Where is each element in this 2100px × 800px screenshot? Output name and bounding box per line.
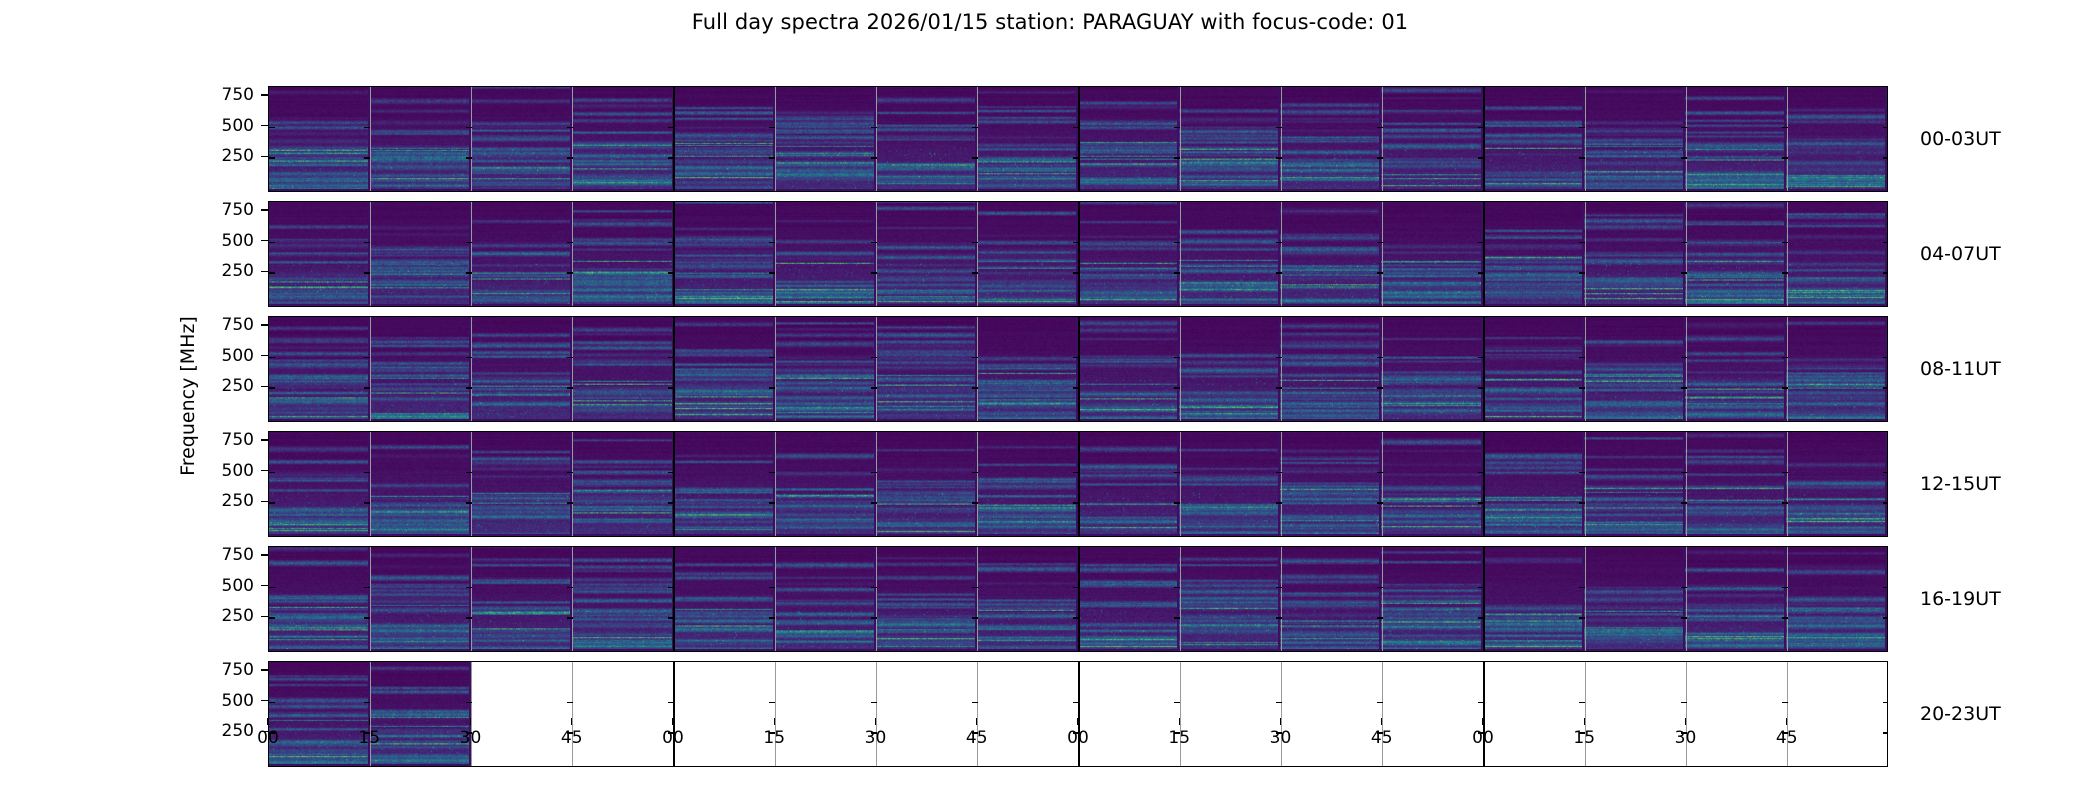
spectrogram-cell[interactable] <box>1584 432 1685 536</box>
row-label-08-11: 08-11UT <box>1920 358 2001 380</box>
minor-tick <box>1174 242 1180 243</box>
quarter-hour-separator <box>1382 547 1383 651</box>
spectrogram-cell[interactable] <box>1584 202 1685 306</box>
spectrogram-cell[interactable] <box>1786 432 1887 536</box>
minor-tick <box>769 357 775 358</box>
minor-tick <box>668 357 674 358</box>
spectrogram-image <box>1786 547 1885 649</box>
x-tick-mark <box>976 718 977 725</box>
spectrogram-cell[interactable] <box>876 432 977 536</box>
minor-tick <box>1579 242 1585 243</box>
minor-tick <box>1681 587 1687 588</box>
spectrogram-image <box>1786 87 1885 189</box>
quarter-hour-separator <box>1787 317 1788 421</box>
minor-tick <box>1883 502 1888 503</box>
minor-tick <box>466 357 472 358</box>
x-tick-mark <box>1077 718 1078 725</box>
quarter-hour-separator <box>1382 87 1383 191</box>
minor-tick <box>871 357 877 358</box>
spectrogram-cell[interactable] <box>775 87 876 191</box>
minor-tick <box>1478 242 1484 243</box>
spectrogram-row-04-07[interactable] <box>268 201 1888 307</box>
spectrogram-cell[interactable] <box>269 202 370 306</box>
minor-tick <box>466 472 472 473</box>
quarter-hour-separator <box>471 202 472 306</box>
y-tick-label: 500 <box>210 116 254 136</box>
quarter-hour-separator <box>471 432 472 536</box>
spectrogram-cell[interactable] <box>269 317 370 421</box>
minor-tick <box>567 387 573 388</box>
quarter-hour-separator <box>471 547 472 651</box>
minor-tick <box>668 157 674 158</box>
spectrogram-image <box>1786 432 1885 534</box>
spectrogram-image <box>1786 202 1885 304</box>
spectrogram-cell[interactable] <box>572 87 673 191</box>
y-tick-label: 500 <box>210 691 254 711</box>
hour-separator <box>673 547 675 651</box>
spectrogram-image <box>269 432 368 534</box>
minor-tick <box>364 242 370 243</box>
spectrogram-image <box>1381 547 1480 649</box>
spectrogram-image <box>1584 87 1683 189</box>
spectrogram-cell[interactable] <box>775 202 876 306</box>
quarter-hour-separator <box>1281 202 1282 306</box>
minor-tick <box>1276 472 1282 473</box>
spectrogram-cell[interactable] <box>674 87 775 191</box>
x-tick-label: 45 <box>1371 728 1393 748</box>
minor-tick <box>871 127 877 128</box>
y-tick-mark <box>261 585 268 586</box>
spectrogram-cell[interactable] <box>572 202 673 306</box>
x-tick-label: 45 <box>1776 728 1798 748</box>
row-label-00-03: 00-03UT <box>1920 128 2001 150</box>
spectrogram-image <box>1584 202 1683 304</box>
spectrogram-image <box>1685 202 1784 304</box>
minor-tick <box>972 472 978 473</box>
spectrogram-cell[interactable] <box>1078 87 1179 191</box>
minor-tick <box>871 472 877 473</box>
quarter-hour-separator <box>1382 202 1383 306</box>
spectrogram-cell[interactable] <box>1685 202 1786 306</box>
minor-tick <box>1276 357 1282 358</box>
quarter-hour-separator <box>775 317 776 421</box>
spectrogram-image <box>775 432 874 534</box>
minor-tick <box>1782 242 1788 243</box>
quarter-hour-separator <box>977 317 978 421</box>
spectrogram-cell[interactable] <box>1280 202 1381 306</box>
spectrogram-cell[interactable] <box>876 87 977 191</box>
spectrogram-cell[interactable] <box>674 202 775 306</box>
spectrogram-image <box>775 317 874 419</box>
minor-tick <box>1579 127 1585 128</box>
quarter-hour-separator <box>1585 432 1586 536</box>
minor-tick <box>269 357 275 358</box>
minor-tick <box>269 472 275 473</box>
quarter-hour-separator <box>1787 202 1788 306</box>
hour-separator <box>1078 202 1080 306</box>
minor-tick <box>769 242 775 243</box>
minor-tick <box>466 272 472 273</box>
spectrogram-cell[interactable] <box>269 432 370 536</box>
minor-tick <box>1782 387 1788 388</box>
spectrogram-cell[interactable] <box>775 547 876 651</box>
spectrogram-cell[interactable] <box>269 547 370 651</box>
spectrogram-cell[interactable] <box>1786 317 1887 421</box>
minor-tick <box>1073 617 1079 618</box>
hour-separator <box>1078 432 1080 536</box>
minor-tick <box>668 387 674 388</box>
spectrogram-cell[interactable] <box>977 87 1078 191</box>
x-tick-label: 45 <box>561 728 583 748</box>
minor-tick <box>466 127 472 128</box>
spectrogram-image <box>1584 317 1683 419</box>
spectrogram-cell[interactable] <box>977 547 1078 651</box>
minor-tick <box>1478 502 1484 503</box>
minor-tick <box>972 272 978 273</box>
x-tick-mark <box>369 718 370 725</box>
spectrogram-cell[interactable] <box>1179 317 1280 421</box>
spectrogram-cell[interactable] <box>775 317 876 421</box>
minor-tick <box>364 357 370 358</box>
minor-tick <box>1681 272 1687 273</box>
spectrogram-cell[interactable] <box>471 202 572 306</box>
spectrogram-image <box>876 547 975 649</box>
y-tick-mark <box>261 470 268 471</box>
quarter-hour-separator <box>1180 202 1181 306</box>
minor-tick <box>1681 242 1687 243</box>
minor-tick <box>1174 157 1180 158</box>
quarter-hour-separator <box>1180 547 1181 651</box>
spectrogram-cell[interactable] <box>1078 432 1179 536</box>
spectrogram-cell[interactable] <box>1786 202 1887 306</box>
x-tick-mark <box>1179 718 1180 725</box>
x-tick-mark <box>470 718 471 725</box>
spectrogram-image <box>1381 317 1480 419</box>
spectrogram-cell[interactable] <box>1483 87 1584 191</box>
minor-tick <box>668 472 674 473</box>
quarter-hour-separator <box>1585 547 1586 651</box>
y-tick-mark <box>261 94 268 95</box>
minor-tick <box>1883 272 1888 273</box>
quarter-hour-separator <box>471 317 472 421</box>
quarter-hour-separator <box>775 202 776 306</box>
hour-separator <box>1078 547 1080 651</box>
minor-tick <box>1782 127 1788 128</box>
spectrogram-cell[interactable] <box>1179 547 1280 651</box>
minor-tick <box>972 702 978 703</box>
spectrogram-cell[interactable] <box>775 432 876 536</box>
minor-tick <box>972 127 978 128</box>
hour-separator <box>673 202 675 306</box>
spectrogram-cell[interactable] <box>1381 202 1482 306</box>
spectrogram-cell[interactable] <box>370 432 471 536</box>
minor-tick <box>1174 702 1180 703</box>
x-tick-label: 30 <box>1270 728 1292 748</box>
minor-tick <box>1681 472 1687 473</box>
minor-tick <box>1073 127 1079 128</box>
minor-tick <box>567 617 573 618</box>
minor-tick <box>1276 387 1282 388</box>
spectrogram-row-08-11[interactable] <box>268 316 1888 422</box>
spectrogram-cell[interactable] <box>370 202 471 306</box>
spectrogram-image <box>1483 317 1582 419</box>
spectrogram-cell[interactable] <box>1078 202 1179 306</box>
minor-tick <box>364 587 370 588</box>
minor-tick <box>1276 587 1282 588</box>
spectrogram-cell[interactable] <box>1685 317 1786 421</box>
spectrogram-cell[interactable] <box>876 547 977 651</box>
minor-tick <box>1782 272 1788 273</box>
y-tick-label: 250 <box>210 376 254 396</box>
minor-tick <box>1073 587 1079 588</box>
quarter-hour-separator <box>775 432 776 536</box>
minor-tick <box>1883 617 1888 618</box>
spectrogram-cell[interactable] <box>1685 432 1786 536</box>
y-tick-mark <box>261 439 268 440</box>
spectrogram-cell[interactable] <box>1381 547 1482 651</box>
minor-tick <box>1073 272 1079 273</box>
minor-tick <box>1478 157 1484 158</box>
x-tick-label: 00 <box>1472 728 1494 748</box>
row-label-16-19: 16-19UT <box>1920 588 2001 610</box>
minor-tick <box>1883 387 1888 388</box>
spectrogram-cell[interactable] <box>1685 547 1786 651</box>
spectrogram-cell[interactable] <box>269 87 370 191</box>
spectrogram-cell[interactable] <box>1483 432 1584 536</box>
quarter-hour-separator <box>471 87 472 191</box>
minor-tick <box>1579 502 1585 503</box>
quarter-hour-separator <box>1686 202 1687 306</box>
x-tick-mark <box>1280 718 1281 725</box>
spectrogram-row-12-15[interactable] <box>268 431 1888 537</box>
spectrogram-image <box>370 87 469 189</box>
minor-tick <box>364 502 370 503</box>
spectrogram-image <box>1381 87 1480 189</box>
x-axis: 00153045001530450015304500153045 <box>268 718 1888 758</box>
minor-tick <box>871 702 877 703</box>
minor-tick <box>1579 587 1585 588</box>
spectrogram-cell[interactable] <box>1786 547 1887 651</box>
spectrogram-image <box>572 87 671 189</box>
spectrogram-image <box>775 87 874 189</box>
spectrogram-cell[interactable] <box>572 547 673 651</box>
spectrogram-cell[interactable] <box>1078 547 1179 651</box>
minor-tick <box>567 157 573 158</box>
minor-tick <box>1377 272 1383 273</box>
minor-tick <box>567 272 573 273</box>
row-plot-area <box>268 431 1888 537</box>
minor-tick <box>1276 502 1282 503</box>
spectrogram-cell[interactable] <box>1584 317 1685 421</box>
x-tick-mark <box>875 718 876 725</box>
spectrogram-image <box>1179 87 1278 189</box>
spectrogram-cell[interactable] <box>1280 317 1381 421</box>
spectrogram-cell[interactable] <box>876 317 977 421</box>
spectrogram-image <box>1179 202 1278 304</box>
y-tick-label: 250 <box>210 261 254 281</box>
spectrogram-cell[interactable] <box>1381 432 1482 536</box>
spectrogram-cell[interactable] <box>1584 87 1685 191</box>
spectrogram-image <box>370 317 469 419</box>
x-tick-label: 30 <box>865 728 887 748</box>
minor-tick <box>1174 502 1180 503</box>
minor-tick <box>972 357 978 358</box>
spectrogram-cell[interactable] <box>572 432 673 536</box>
x-tick-label: 00 <box>1067 728 1089 748</box>
minor-tick <box>1681 387 1687 388</box>
minor-tick <box>1377 127 1383 128</box>
minor-tick <box>567 242 573 243</box>
page-title: Full day spectra 2026/01/15 station: PAR… <box>0 10 2100 34</box>
minor-tick <box>269 702 275 703</box>
spectrogram-row-16-19[interactable] <box>268 546 1888 652</box>
minor-tick <box>1478 357 1484 358</box>
hour-separator <box>1078 317 1080 421</box>
quarter-hour-separator <box>977 432 978 536</box>
minor-tick <box>466 587 472 588</box>
spectrogram-image <box>370 547 469 649</box>
minor-tick <box>871 242 877 243</box>
minor-tick <box>1073 242 1079 243</box>
spectrogram-cell[interactable] <box>674 432 775 536</box>
minor-tick <box>769 272 775 273</box>
minor-tick <box>1377 702 1383 703</box>
minor-tick <box>1579 272 1585 273</box>
spectrogram-image <box>977 432 1076 534</box>
y-tick-label: 500 <box>210 231 254 251</box>
minor-tick <box>1782 702 1788 703</box>
spectrogram-cell[interactable] <box>1483 547 1584 651</box>
quarter-hour-separator <box>370 432 371 536</box>
spectrogram-image <box>674 432 773 534</box>
spectrogram-image <box>775 547 874 649</box>
quarter-hour-separator <box>876 547 877 651</box>
x-tick-label: 15 <box>1168 728 1190 748</box>
spectrogram-cell[interactable] <box>1381 87 1482 191</box>
minor-tick <box>1478 587 1484 588</box>
minor-tick <box>1883 587 1888 588</box>
minor-tick <box>1276 272 1282 273</box>
spectrogram-cell[interactable] <box>370 547 471 651</box>
spectrogram-cell[interactable] <box>1280 547 1381 651</box>
spectrogram-cell[interactable] <box>674 547 775 651</box>
x-tick-mark <box>1482 718 1483 725</box>
minor-tick <box>1579 157 1585 158</box>
minor-tick <box>1377 357 1383 358</box>
x-tick-mark <box>672 718 673 725</box>
quarter-hour-separator <box>1180 432 1181 536</box>
minor-tick <box>1174 127 1180 128</box>
spectrogram-image <box>269 547 368 649</box>
y-tick-mark <box>261 240 268 241</box>
spectrogram-cell[interactable] <box>1179 87 1280 191</box>
minor-tick <box>668 587 674 588</box>
x-tick-label: 00 <box>662 728 684 748</box>
spectrogram-image <box>1078 87 1177 189</box>
spectrogram-image <box>370 202 469 304</box>
spectrogram-image <box>1381 432 1480 534</box>
spectrogram-cell[interactable] <box>1584 547 1685 651</box>
spectrogram-cell[interactable] <box>1280 87 1381 191</box>
spectrogram-cell[interactable] <box>1786 87 1887 191</box>
spectrogram-image <box>471 432 570 534</box>
spectrogram-cell[interactable] <box>471 317 572 421</box>
spectrogram-cell[interactable] <box>1381 317 1482 421</box>
minor-tick <box>769 127 775 128</box>
spectrogram-cell[interactable] <box>977 317 1078 421</box>
x-tick-label: 15 <box>763 728 785 748</box>
spectrogram-cell[interactable] <box>977 202 1078 306</box>
row-plot-area <box>268 316 1888 422</box>
hour-separator <box>1483 432 1485 536</box>
minor-tick <box>1276 242 1282 243</box>
minor-tick <box>1377 617 1383 618</box>
y-tick-label: 750 <box>210 85 254 105</box>
spectrogram-cell[interactable] <box>1078 317 1179 421</box>
spectrogram-cell[interactable] <box>370 87 471 191</box>
spectrogram-cell[interactable] <box>471 432 572 536</box>
quarter-hour-separator <box>1585 202 1586 306</box>
spectrogram-cell[interactable] <box>471 87 572 191</box>
minor-tick <box>668 702 674 703</box>
minor-tick <box>1681 617 1687 618</box>
spectrogram-image <box>977 317 1076 419</box>
x-tick-mark <box>267 718 268 725</box>
minor-tick <box>769 157 775 158</box>
quarter-hour-separator <box>370 202 371 306</box>
spectrogram-cell[interactable] <box>1685 87 1786 191</box>
y-tick-label: 500 <box>210 346 254 366</box>
spectrogram-row-00-03[interactable] <box>268 86 1888 192</box>
spectrogram-image <box>1685 547 1784 649</box>
spectrogram-cell[interactable] <box>977 432 1078 536</box>
hour-separator <box>1483 202 1485 306</box>
y-tick-label: 500 <box>210 461 254 481</box>
spectrogram-image <box>674 317 773 419</box>
minor-tick <box>1174 272 1180 273</box>
y-tick-label: 750 <box>210 545 254 565</box>
x-tick-label: 15 <box>358 728 380 748</box>
minor-tick <box>567 472 573 473</box>
quarter-hour-separator <box>572 317 573 421</box>
spectrogram-cell[interactable] <box>370 317 471 421</box>
spectrogram-cell[interactable] <box>471 547 572 651</box>
minor-tick <box>269 272 275 273</box>
spectrogram-cell[interactable] <box>876 202 977 306</box>
minor-tick <box>269 502 275 503</box>
spectrogram-image <box>1078 432 1177 534</box>
minor-tick <box>1478 387 1484 388</box>
quarter-hour-separator <box>876 202 877 306</box>
spectrogram-image <box>1179 317 1278 419</box>
quarter-hour-separator <box>1787 87 1788 191</box>
spectrogram-cell[interactable] <box>1483 317 1584 421</box>
spectrogram-cell[interactable] <box>1280 432 1381 536</box>
spectrogram-image <box>1483 547 1582 649</box>
spectrogram-image <box>775 202 874 304</box>
minor-tick <box>567 587 573 588</box>
minor-tick <box>1782 617 1788 618</box>
spectrogram-cell[interactable] <box>572 317 673 421</box>
spectrogram-cell[interactable] <box>1179 202 1280 306</box>
minor-tick <box>1174 387 1180 388</box>
minor-tick <box>1883 127 1888 128</box>
y-tick-mark <box>261 616 268 617</box>
spectrogram-cell[interactable] <box>1179 432 1280 536</box>
spectrogram-cell[interactable] <box>1483 202 1584 306</box>
spectrogram-cell[interactable] <box>674 317 775 421</box>
spectrogram-image <box>876 432 975 534</box>
